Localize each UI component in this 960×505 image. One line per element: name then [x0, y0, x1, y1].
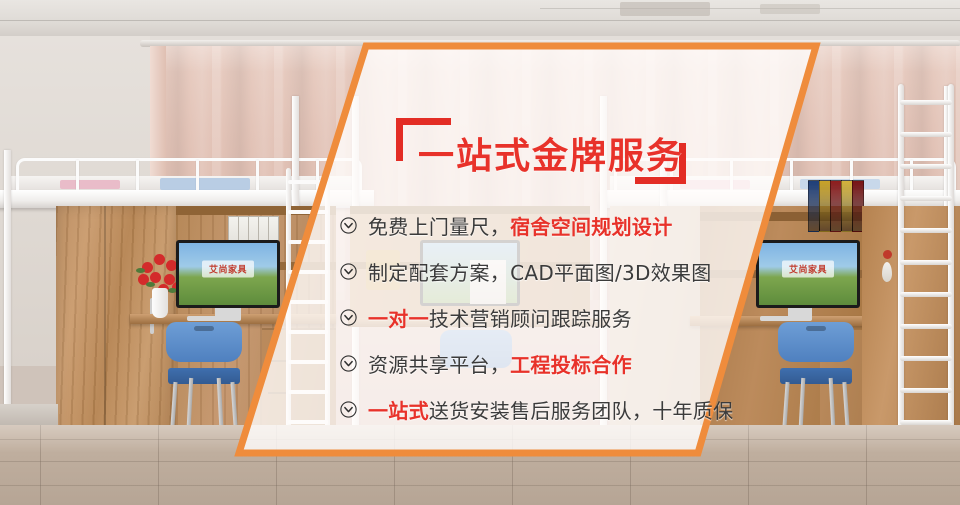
- promo-banner: 艾尚家具: [0, 0, 960, 505]
- page-title: 一站式金牌服务: [418, 127, 684, 179]
- feature-text: 资源共享平台，工程投标合作: [368, 349, 632, 378]
- feature-item: 一对一技术营销顾问跟踪服务: [340, 298, 860, 336]
- circle-chevron-down-icon: [340, 355, 357, 372]
- feature-list: 免费上门量尺，宿舍空间规划设计制定配套方案，CAD平面图/3D效果图一对一技术营…: [340, 206, 860, 436]
- circle-chevron-down-icon: [340, 217, 357, 234]
- feature-item: 免费上门量尺，宿舍空间规划设计: [340, 206, 860, 244]
- feature-text: 一对一技术营销顾问跟踪服务: [368, 303, 632, 332]
- feature-item: 一站式送货安装售后服务团队，十年质保: [340, 390, 860, 428]
- circle-chevron-down-icon: [340, 263, 357, 280]
- overlay-content: 一站式金牌服务 免费上门量尺，宿舍空间规划设计制定配套方案，CAD平面图/3D效…: [0, 0, 960, 505]
- feature-text-normal: 制定配套方案，CAD平面图/3D效果图: [368, 261, 712, 285]
- circle-chevron-down-icon: [340, 263, 357, 280]
- feature-text-normal: 送货安装售后服务团队，十年质保: [429, 399, 734, 423]
- feature-text: 免费上门量尺，宿舍空间规划设计: [368, 211, 673, 240]
- feature-item: 资源共享平台，工程投标合作: [340, 344, 860, 382]
- circle-chevron-down-icon: [340, 401, 357, 418]
- feature-text: 制定配套方案，CAD平面图/3D效果图: [368, 257, 712, 286]
- feature-text-normal: 技术营销顾问跟踪服务: [429, 307, 632, 331]
- feature-text-highlight: 一对一: [368, 307, 429, 331]
- circle-chevron-down-icon: [340, 217, 357, 234]
- circle-chevron-down-icon: [340, 309, 357, 326]
- feature-text-normal: 免费上门量尺，: [368, 215, 510, 239]
- feature-text: 一站式送货安装售后服务团队，十年质保: [368, 395, 733, 424]
- circle-chevron-down-icon: [340, 309, 357, 326]
- title-block: 一站式金牌服务: [396, 118, 686, 184]
- circle-chevron-down-icon: [340, 401, 357, 418]
- feature-text-highlight: 宿舍空间规划设计: [510, 215, 672, 239]
- feature-item: 制定配套方案，CAD平面图/3D效果图: [340, 252, 860, 290]
- feature-text-highlight: 工程投标合作: [510, 353, 632, 377]
- feature-text-highlight: 一站式: [368, 399, 429, 423]
- circle-chevron-down-icon: [340, 355, 357, 372]
- feature-text-normal: 资源共享平台，: [368, 353, 510, 377]
